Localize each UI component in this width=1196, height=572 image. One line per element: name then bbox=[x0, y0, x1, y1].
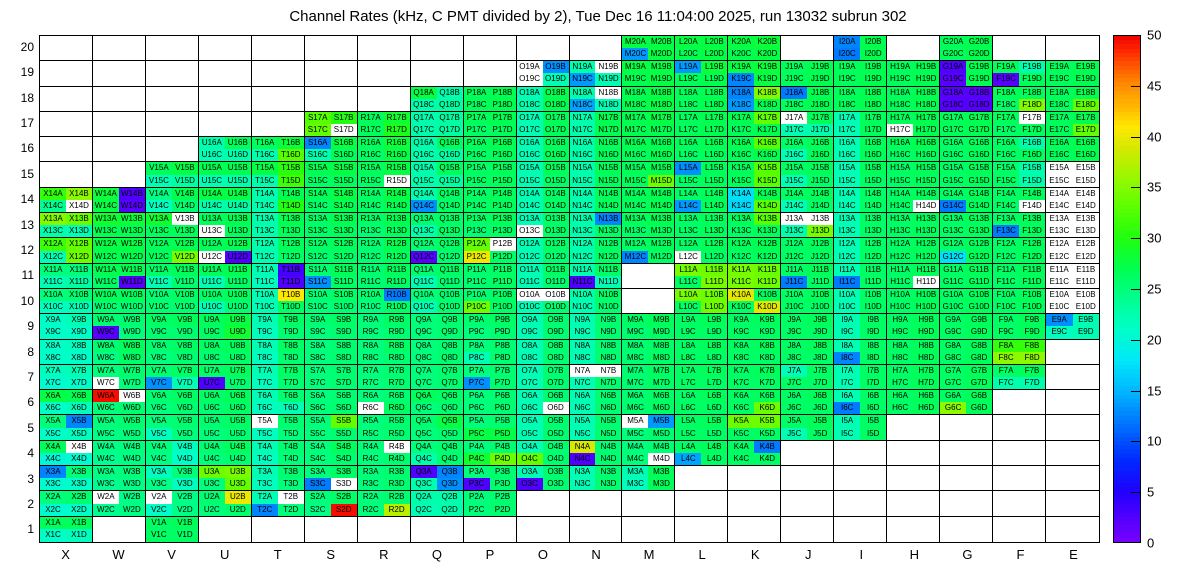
channel-label: R4D bbox=[384, 453, 410, 465]
channel-label: Q2D bbox=[437, 504, 463, 516]
channel-tile: N18A bbox=[570, 87, 596, 99]
channel-label: P13B bbox=[490, 213, 516, 225]
channel-label: V15A bbox=[146, 162, 172, 174]
empty-tile bbox=[622, 276, 648, 288]
channel-label: T8B bbox=[278, 340, 304, 352]
empty-tile bbox=[517, 504, 543, 516]
empty-tile bbox=[993, 428, 1019, 440]
heatmap-cell: O11AO11BO11CO11D bbox=[517, 264, 570, 289]
empty-tile bbox=[860, 466, 886, 478]
empty-tile bbox=[93, 48, 119, 60]
empty-tile bbox=[172, 73, 198, 85]
heatmap-cell bbox=[146, 61, 199, 86]
channel-tile: V14A bbox=[146, 188, 172, 200]
channel-tile: J9D bbox=[807, 326, 833, 338]
y-axis-tick-label: 20 bbox=[4, 40, 34, 54]
channel-label: O13B bbox=[543, 213, 569, 225]
channel-label: I15B bbox=[860, 162, 886, 174]
channel-tile: R17C bbox=[358, 124, 384, 136]
channel-tile: R11B bbox=[384, 264, 410, 276]
channel-label: G16B bbox=[966, 137, 992, 149]
channel-tile: I16B bbox=[860, 137, 886, 149]
heatmap-cell: E10AE10BE10CE10D bbox=[1046, 289, 1099, 314]
channel-label: V14A bbox=[146, 188, 172, 200]
channel-label: N4C bbox=[570, 453, 596, 465]
channel-tile: I8C bbox=[834, 352, 860, 364]
channel-label: P10D bbox=[490, 301, 516, 313]
channel-tile: V2D bbox=[172, 504, 198, 516]
channel-tile: R10B bbox=[384, 289, 410, 301]
channel-label: P18B bbox=[490, 87, 516, 99]
heatmap-cell bbox=[305, 36, 358, 61]
channel-tile: V1C bbox=[146, 529, 172, 542]
channel-label: V9C bbox=[146, 326, 172, 338]
empty-tile bbox=[358, 61, 384, 73]
channel-label: V2A bbox=[146, 491, 172, 503]
channel-tile: R14B bbox=[384, 188, 410, 200]
channel-tile: T2B bbox=[278, 491, 304, 503]
channel-label: P9A bbox=[464, 314, 490, 326]
channel-label: Q18C bbox=[411, 99, 437, 111]
channel-tile: K19B bbox=[754, 61, 780, 73]
empty-tile bbox=[358, 73, 384, 85]
empty-tile bbox=[199, 99, 225, 111]
channel-label: E9B bbox=[1073, 314, 1099, 326]
heatmap-cell: L8AL8BL8CL8D bbox=[675, 340, 728, 365]
channel-label: T13A bbox=[252, 213, 278, 225]
colorbar-tick-label: 0 bbox=[1147, 536, 1154, 551]
empty-tile bbox=[887, 504, 913, 516]
channel-label: K14C bbox=[728, 200, 754, 212]
channel-tile: H19A bbox=[887, 61, 913, 73]
channel-label: T13B bbox=[278, 213, 304, 225]
channel-tile: S7D bbox=[331, 377, 357, 389]
channel-label: S14A bbox=[305, 188, 331, 200]
channel-label: G11A bbox=[940, 264, 966, 276]
x-axis-tick-label: T bbox=[248, 547, 308, 562]
channel-tile: P13D bbox=[490, 225, 516, 237]
channel-label: G10B bbox=[966, 289, 992, 301]
channel-label: L4C bbox=[675, 453, 701, 465]
channel-tile: N9D bbox=[595, 326, 621, 338]
heatmap-cell bbox=[305, 87, 358, 112]
channel-label: I15C bbox=[834, 175, 860, 187]
channel-tile: I20C bbox=[834, 48, 860, 60]
channel-tile: M12A bbox=[622, 238, 648, 250]
channel-label: X4A bbox=[40, 441, 66, 453]
channel-label: R2B bbox=[384, 491, 410, 503]
channel-tile: S17B bbox=[331, 112, 357, 124]
channel-label: M4D bbox=[648, 453, 674, 465]
channel-label: Q11D bbox=[437, 276, 463, 288]
channel-tile: O7D bbox=[543, 377, 569, 389]
channel-tile: G8A bbox=[940, 340, 966, 352]
empty-tile bbox=[331, 99, 357, 111]
channel-tile: X1A bbox=[40, 517, 66, 530]
channel-tile: P14C bbox=[464, 200, 490, 212]
channel-label: O11D bbox=[543, 276, 569, 288]
empty-tile bbox=[199, 48, 225, 60]
channel-tile: Q14D bbox=[437, 200, 463, 212]
channel-tile: M9A bbox=[622, 314, 648, 326]
channel-label: Q13B bbox=[437, 213, 463, 225]
channel-label: K19D bbox=[754, 73, 780, 85]
channel-label: K19C bbox=[728, 73, 754, 85]
channel-label: L14D bbox=[701, 200, 727, 212]
channel-label: L14A bbox=[675, 188, 701, 200]
empty-tile bbox=[119, 517, 145, 530]
channel-label: K6B bbox=[754, 390, 780, 402]
channel-label: U11B bbox=[225, 264, 251, 276]
empty-tile bbox=[675, 466, 701, 478]
y-axis-tick-label: 16 bbox=[4, 141, 34, 155]
channel-label: N16C bbox=[570, 149, 596, 161]
channel-tile: R9D bbox=[384, 326, 410, 338]
channel-label: N11C bbox=[570, 276, 596, 288]
heatmap-grid: M20AM20BM20CM20DL20AL20BL20CL20DK20AK20B… bbox=[40, 36, 1099, 542]
channel-label: F9A bbox=[993, 314, 1019, 326]
channel-label: P6D bbox=[490, 402, 516, 414]
channel-label: X13A bbox=[40, 213, 66, 225]
y-axis-labels: 2019181716151413121110987654321 bbox=[0, 35, 34, 543]
channel-label: K18C bbox=[728, 99, 754, 111]
heatmap-cell: H14AH14BH14CH14D bbox=[887, 188, 940, 213]
channel-tile: N16D bbox=[595, 149, 621, 161]
empty-tile bbox=[40, 149, 66, 161]
channel-tile: J19A bbox=[781, 61, 807, 73]
channel-tile: N15D bbox=[595, 175, 621, 187]
channel-label: K9B bbox=[754, 314, 780, 326]
channel-label: O8D bbox=[543, 352, 569, 364]
heatmap-cell: U14AU14BU14CU14D bbox=[199, 188, 252, 213]
empty-tile bbox=[887, 36, 913, 48]
colorbar-tick-mark bbox=[1131, 137, 1141, 138]
heatmap-cell bbox=[675, 517, 728, 542]
channel-tile: P9C bbox=[464, 326, 490, 338]
channel-tile: O13B bbox=[543, 213, 569, 225]
empty-tile bbox=[384, 36, 410, 48]
channel-tile: X1D bbox=[66, 529, 92, 542]
channel-label: E14D bbox=[1073, 200, 1099, 212]
channel-tile: Q8D bbox=[437, 352, 463, 364]
channel-label: Q7D bbox=[437, 377, 463, 389]
heatmap-cell: I8AI8BI8CI8D bbox=[834, 340, 887, 365]
channel-tile: U10A bbox=[199, 289, 225, 301]
empty-tile bbox=[1046, 48, 1072, 60]
channel-label: I10D bbox=[860, 301, 886, 313]
channel-tile: S8D bbox=[331, 352, 357, 364]
channel-tile: V8C bbox=[146, 352, 172, 364]
channel-tile: J15D bbox=[807, 175, 833, 187]
channel-tile: G12D bbox=[966, 251, 992, 263]
channel-tile: K20A bbox=[728, 36, 754, 48]
heatmap-cell: U8AU8BU8CU8D bbox=[199, 340, 252, 365]
channel-tile: I18A bbox=[834, 87, 860, 99]
channel-tile: G16C bbox=[940, 149, 966, 161]
channel-label: Q13C bbox=[411, 225, 437, 237]
channel-tile: M7A bbox=[622, 365, 648, 377]
channel-label: J5C bbox=[781, 428, 807, 440]
channel-tile: X5D bbox=[66, 428, 92, 440]
channel-tile: I10B bbox=[860, 289, 886, 301]
heatmap-cell bbox=[252, 517, 305, 542]
channel-tile: G15D bbox=[966, 175, 992, 187]
channel-label: V10D bbox=[172, 301, 198, 313]
channel-tile: J14B bbox=[807, 188, 833, 200]
x-axis-tick-label: O bbox=[513, 547, 573, 562]
channel-label: M20A bbox=[622, 36, 648, 48]
heatmap-cell: U16AU16BU16CU16D bbox=[199, 137, 252, 162]
channel-label: F7C bbox=[993, 377, 1019, 389]
heatmap-cell: O3AO3BO3CO3D bbox=[517, 466, 570, 491]
channel-label: V9D bbox=[172, 326, 198, 338]
channel-label: M15C bbox=[622, 175, 648, 187]
channel-tile: R11C bbox=[358, 276, 384, 288]
channel-tile: F7A bbox=[993, 365, 1019, 377]
x-axis-tick-label: N bbox=[566, 547, 626, 562]
channel-tile: M15B bbox=[648, 162, 674, 174]
channel-label: I13A bbox=[834, 213, 860, 225]
heatmap-cell: U15AU15BU15CU15D bbox=[199, 162, 252, 187]
channel-label: W11C bbox=[93, 276, 119, 288]
channel-label: X12D bbox=[66, 251, 92, 263]
channel-label: V10A bbox=[146, 289, 172, 301]
channel-tile: N7D bbox=[595, 377, 621, 389]
channel-label: F19B bbox=[1019, 61, 1045, 73]
channel-tile: W13B bbox=[119, 213, 145, 225]
channel-label: H11D bbox=[913, 276, 939, 288]
channel-label: L10C bbox=[675, 301, 701, 313]
channel-tile: I19B bbox=[860, 61, 886, 73]
channel-tile: O11B bbox=[543, 264, 569, 276]
channel-tile: O14C bbox=[517, 200, 543, 212]
channel-label: J5B bbox=[807, 415, 833, 427]
heatmap-cell: F17AF17BF17CF17D bbox=[993, 112, 1046, 137]
channel-label: U2B bbox=[225, 491, 251, 503]
empty-tile bbox=[860, 478, 886, 490]
channel-label: X11C bbox=[40, 276, 66, 288]
empty-tile bbox=[305, 48, 331, 60]
channel-tile: R7A bbox=[358, 365, 384, 377]
channel-tile: R10D bbox=[384, 301, 410, 313]
channel-tile: X14C bbox=[40, 200, 66, 212]
channel-label: I9C bbox=[834, 326, 860, 338]
channel-label: E17D bbox=[1073, 124, 1099, 136]
heatmap-cell: G7AG7BG7CG7D bbox=[940, 365, 993, 390]
channel-tile: L5A bbox=[675, 415, 701, 427]
channel-tile: N10C bbox=[570, 301, 596, 313]
heatmap-cell: T15AT15BT15CT15D bbox=[252, 162, 305, 187]
channel-label: H9A bbox=[887, 314, 913, 326]
heatmap-cell bbox=[411, 61, 464, 86]
channel-tile: V2A bbox=[146, 491, 172, 503]
channel-label: Q9C bbox=[411, 326, 437, 338]
heatmap-cell: U4AU4BU4CU4D bbox=[199, 441, 252, 466]
empty-tile bbox=[384, 61, 410, 73]
channel-label: T16D bbox=[278, 149, 304, 161]
channel-tile: G10D bbox=[966, 301, 992, 313]
channel-tile: E9D bbox=[1073, 326, 1099, 338]
channel-tile: H19C bbox=[887, 73, 913, 85]
empty-tile bbox=[464, 73, 490, 85]
channel-label: K5D bbox=[754, 428, 780, 440]
empty-tile bbox=[464, 48, 490, 60]
channel-label: P15D bbox=[490, 175, 516, 187]
channel-label: J15D bbox=[807, 175, 833, 187]
heatmap-cell: L14AL14BL14CL14D bbox=[675, 188, 728, 213]
channel-tile: T5B bbox=[278, 415, 304, 427]
channel-label: H14D bbox=[913, 200, 939, 212]
channel-tile: S5D bbox=[331, 428, 357, 440]
channel-label: S3D bbox=[331, 478, 357, 490]
heatmap-cell: J6AJ6BJ6CJ6D bbox=[781, 390, 834, 415]
channel-label: P2B bbox=[490, 491, 516, 503]
channel-label: N8A bbox=[570, 340, 596, 352]
channel-label: Q10C bbox=[411, 301, 437, 313]
heatmap-cell bbox=[305, 517, 358, 542]
channel-tile: T3C bbox=[252, 478, 278, 490]
empty-tile bbox=[807, 491, 833, 503]
channel-tile: I9D bbox=[860, 326, 886, 338]
channel-tile: G9B bbox=[966, 314, 992, 326]
heatmap-cell: S10AS10BS10CS10D bbox=[305, 289, 358, 314]
channel-label: V15D bbox=[172, 175, 198, 187]
channel-label: Q4D bbox=[437, 453, 463, 465]
channel-label: J18B bbox=[807, 87, 833, 99]
channel-tile: E17D bbox=[1073, 124, 1099, 136]
channel-label: G10D bbox=[966, 301, 992, 313]
empty-tile bbox=[860, 491, 886, 503]
x-axis-tick-label: J bbox=[778, 547, 838, 562]
channel-tile: F11C bbox=[993, 276, 1019, 288]
empty-tile bbox=[701, 529, 727, 542]
channel-tile: S15A bbox=[305, 162, 331, 174]
channel-tile: V14B bbox=[172, 188, 198, 200]
channel-tile: S16A bbox=[305, 137, 331, 149]
heatmap-cell bbox=[728, 517, 781, 542]
channel-label: N18B bbox=[595, 87, 621, 99]
channel-tile: J16A bbox=[781, 137, 807, 149]
y-axis-tick-label: 6 bbox=[4, 395, 34, 409]
channel-tile: U15C bbox=[199, 175, 225, 187]
empty-tile bbox=[66, 36, 92, 48]
channel-label: H7A bbox=[887, 365, 913, 377]
heatmap-cell: F8AF8BF8CF8D bbox=[993, 340, 1046, 365]
channel-label: N3D bbox=[595, 478, 621, 490]
channel-tile: R9A bbox=[358, 314, 384, 326]
heatmap-cell: G10AG10BG10CG10D bbox=[940, 289, 993, 314]
channel-label: G8C bbox=[940, 352, 966, 364]
empty-tile bbox=[913, 36, 939, 48]
empty-tile bbox=[570, 36, 596, 48]
channel-label: R17D bbox=[384, 124, 410, 136]
heatmap-cell: X5AX5BX5CX5D bbox=[40, 415, 93, 440]
channel-label: X9B bbox=[66, 314, 92, 326]
channel-label: U14B bbox=[225, 188, 251, 200]
empty-tile bbox=[119, 124, 145, 136]
channel-tile: V15C bbox=[146, 175, 172, 187]
channel-label: U15D bbox=[225, 175, 251, 187]
channel-label: W2C bbox=[93, 504, 119, 516]
heatmap-cell: N16AN16BN16CN16D bbox=[570, 137, 623, 162]
channel-label: L14B bbox=[701, 188, 727, 200]
heatmap-cell: W4AW4BW4CW4D bbox=[93, 441, 146, 466]
channel-tile: G13B bbox=[966, 213, 992, 225]
channel-label: T6B bbox=[278, 390, 304, 402]
channel-label: X14B bbox=[66, 188, 92, 200]
channel-label: J19B bbox=[807, 61, 833, 73]
channel-tile: L16D bbox=[701, 149, 727, 161]
channel-tile: E13B bbox=[1073, 213, 1099, 225]
heatmap-cell: L19AL19BL19CL19D bbox=[675, 61, 728, 86]
channel-label: Q7C bbox=[411, 377, 437, 389]
channel-label: I17B bbox=[860, 112, 886, 124]
channel-tile: S10C bbox=[305, 301, 331, 313]
channel-tile: G19B bbox=[966, 61, 992, 73]
channel-tile: M12B bbox=[648, 238, 674, 250]
channel-tile: T10D bbox=[278, 301, 304, 313]
channel-label: S12D bbox=[331, 251, 357, 263]
channel-tile: E10A bbox=[1046, 289, 1072, 301]
channel-tile: X11B bbox=[66, 264, 92, 276]
channel-label: U6C bbox=[199, 402, 225, 414]
channel-tile: N13D bbox=[595, 225, 621, 237]
heatmap-cell bbox=[40, 137, 93, 162]
channel-tile: W12A bbox=[93, 238, 119, 250]
channel-tile: N8C bbox=[570, 352, 596, 364]
channel-tile: L5D bbox=[701, 428, 727, 440]
colorbar-tick-label: 40 bbox=[1147, 129, 1161, 144]
channel-tile: O15D bbox=[543, 175, 569, 187]
empty-tile bbox=[490, 517, 516, 530]
empty-tile bbox=[940, 504, 966, 516]
channel-label: K16C bbox=[728, 149, 754, 161]
empty-tile bbox=[1046, 491, 1072, 503]
channel-label: Q10B bbox=[437, 289, 463, 301]
channel-label: V2D bbox=[172, 504, 198, 516]
channel-label: I15A bbox=[834, 162, 860, 174]
channel-tile: L14B bbox=[701, 188, 727, 200]
channel-tile: O19D bbox=[543, 73, 569, 85]
channel-label: L18D bbox=[701, 99, 727, 111]
channel-tile: T13D bbox=[278, 225, 304, 237]
channel-label: K6C bbox=[728, 402, 754, 414]
channel-tile: O15C bbox=[517, 175, 543, 187]
channel-tile: M19C bbox=[622, 73, 648, 85]
empty-tile bbox=[66, 149, 92, 161]
channel-label: W8D bbox=[119, 352, 145, 364]
channel-tile: G16B bbox=[966, 137, 992, 149]
channel-tile: O18C bbox=[517, 99, 543, 111]
heatmap-cell: T3AT3BT3CT3D bbox=[252, 466, 305, 491]
heatmap-cell: Q13AQ13BQ13CQ13D bbox=[411, 213, 464, 238]
channel-label: M17A bbox=[622, 112, 648, 124]
y-axis-tick-label: 14 bbox=[4, 192, 34, 206]
channel-label: S13D bbox=[331, 225, 357, 237]
empty-tile bbox=[1073, 352, 1099, 364]
heatmap-cell: L11AL11BL11CL11D bbox=[675, 264, 728, 289]
empty-tile bbox=[913, 517, 939, 530]
channel-label: N15C bbox=[570, 175, 596, 187]
channel-label: L12B bbox=[701, 238, 727, 250]
channel-tile: X3B bbox=[66, 466, 92, 478]
channel-tile: H9C bbox=[887, 326, 913, 338]
channel-tile: M19B bbox=[648, 61, 674, 73]
channel-label: O16C bbox=[517, 149, 543, 161]
channel-tile: G19D bbox=[966, 73, 992, 85]
y-axis-tick-label: 18 bbox=[4, 91, 34, 105]
channel-tile: U4C bbox=[199, 453, 225, 465]
